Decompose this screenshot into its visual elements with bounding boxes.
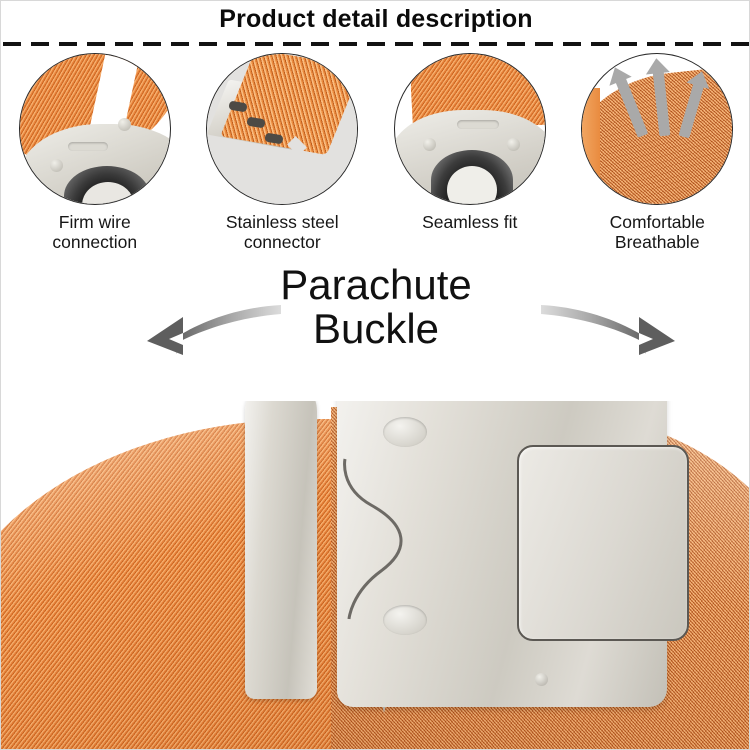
curved-arrow-right-icon [539,293,679,363]
buckle-s-groove-graphic [337,453,459,625]
case-slot-graphic [68,142,108,151]
feature-row: Firm wire connection Stainless steel con… [1,53,750,253]
feature-image-seamless-fit [394,53,546,205]
feature-stainless-steel-connector: Stainless steel connector [189,53,377,253]
main-product-photo [1,401,749,749]
buckle-keeper-bar-graphic [245,401,317,699]
curved-arrow-left-icon [143,293,283,363]
feature-caption-seamless-fit: Seamless fit [422,212,517,232]
feature-seamless-fit: Seamless fit [376,53,564,253]
caption-line-2: Breathable [610,232,705,252]
feature-image-comfortable-breathable [581,53,733,205]
caption-line-1: Comfortable [610,212,705,232]
feature-image-stainless-steel-connector [206,53,358,205]
page-title: Product detail description [1,5,750,34]
screw-icon [535,673,548,686]
case-slot-graphic [457,120,499,129]
feature-caption-firm-wire-connection: Firm wire connection [52,212,137,253]
screw-icon [423,138,436,151]
buckle-lobe-graphic [383,605,427,635]
buckle-lobe-graphic [383,417,427,447]
parachute-buckle-graphic [241,401,661,749]
feature-image-firm-wire-connection [19,53,171,205]
feature-caption-stainless-steel-connector: Stainless steel connector [226,212,339,253]
caption-line-2: connector [226,232,339,252]
feature-caption-comfortable-breathable: Comfortable Breathable [610,212,705,253]
screw-icon [507,138,520,151]
band-edge-graphic [581,88,600,205]
feature-comfortable-breathable: Comfortable Breathable [564,53,750,253]
caption-line-1: Seamless fit [422,212,517,232]
product-detail-image: Product detail description Firm wire con… [0,0,750,750]
watch-sensor-lens-graphic [447,166,497,205]
screw-icon [118,118,131,131]
screw-icon [50,159,63,172]
caption-line-1: Firm wire [52,212,137,232]
caption-line-1: Stainless steel [226,212,339,232]
caption-line-2: connection [52,232,137,252]
feature-firm-wire-connection: Firm wire connection [1,53,189,253]
dashed-divider [3,42,749,46]
buckle-face-panel-graphic [517,445,689,641]
